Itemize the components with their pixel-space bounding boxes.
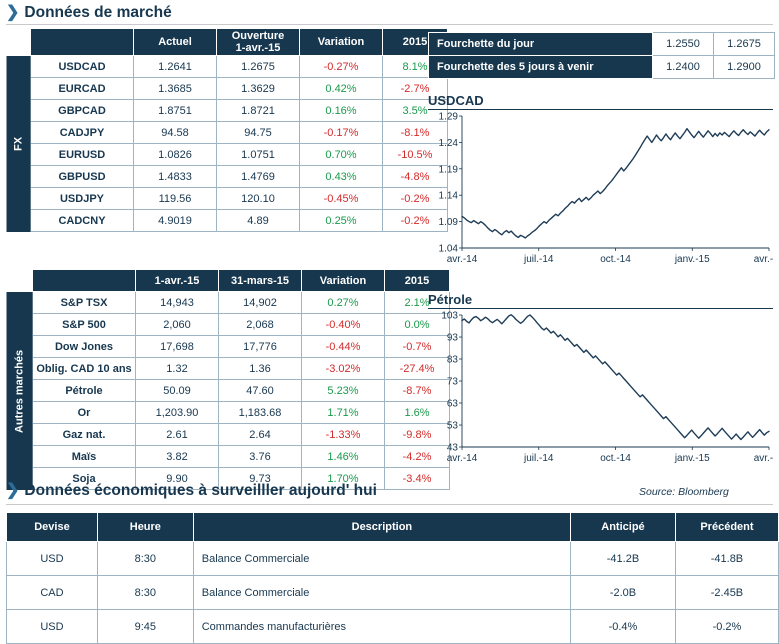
fx-row-name: GBPCAD xyxy=(31,100,134,122)
table-row: USD 9:45 Commandes manufacturières -0.4%… xyxy=(7,610,779,644)
svg-text:43: 43 xyxy=(447,443,459,454)
range-day-low: 1.2550 xyxy=(653,33,714,56)
svg-text:63: 63 xyxy=(447,399,459,410)
table-row: USDJPY 119.56 120.10 -0.45% -0.2% xyxy=(6,188,448,210)
table-row: Fourchette du jour 1.2550 1.2675 xyxy=(429,33,775,56)
fx-row-actuel: 1.8751 xyxy=(134,100,217,122)
eco-row-anticipe: -2.0B xyxy=(571,576,676,610)
other-markets-table: 1-avr.-15 31-mars-15 Variation 2015 Autr… xyxy=(6,269,450,490)
other-row-name: Or xyxy=(33,402,136,424)
range-5day-low: 1.2400 xyxy=(653,56,714,79)
fx-row-ouverture: 1.0751 xyxy=(217,144,300,166)
svg-text:juil.-14: juil.-14 xyxy=(523,254,554,265)
svg-text:avr.-15: avr.-15 xyxy=(754,453,773,464)
svg-text:93: 93 xyxy=(447,333,459,344)
table-row: Gaz nat. 2.61 2.64 -1.33% -9.8% xyxy=(6,424,450,446)
svg-text:avr.-15: avr.-15 xyxy=(754,254,773,265)
eco-header-description: Description xyxy=(193,513,570,542)
fx-row-variation: -0.45% xyxy=(300,188,383,210)
petrole-chart-area: 435363738393103avr.-14juil.-14oct.-14jan… xyxy=(428,309,773,467)
fx-row-name: CADJPY xyxy=(31,122,134,144)
eco-row-devise: CAD xyxy=(7,576,98,610)
other-row-name: Gaz nat. xyxy=(33,424,136,446)
fx-row-ouverture: 94.75 xyxy=(217,122,300,144)
usdcad-chart-svg: 1.041.091.141.191.241.29avr.-14juil.-14o… xyxy=(428,110,773,268)
other-row-name: Oblig. CAD 10 ans xyxy=(33,358,136,380)
fx-row-actuel: 1.3685 xyxy=(134,78,217,100)
fx-row-variation: -0.27% xyxy=(300,56,383,78)
table-row: GBPUSD 1.4833 1.4769 0.43% -4.8% xyxy=(6,166,448,188)
other-row-c2: 1,183.68 xyxy=(219,402,302,424)
other-row-name: Dow Jones xyxy=(33,336,136,358)
eco-title: ❯ Données économiques à surveilller aujo… xyxy=(6,482,377,500)
eco-row-precedent: -0.2% xyxy=(675,610,778,644)
fx-row-variation: -0.17% xyxy=(300,122,383,144)
other-row-name: Pétrole xyxy=(33,380,136,402)
fx-row-ouverture: 4.89 xyxy=(217,210,300,232)
table-row: Fourchette des 5 jours à venir 1.2400 1.… xyxy=(429,56,775,79)
eco-row-description: Commandes manufacturières xyxy=(193,610,570,644)
other-row-c1: 3.82 xyxy=(136,446,219,468)
eco-header-heure: Heure xyxy=(97,513,193,542)
fx-row-ouverture: 1.3629 xyxy=(217,78,300,100)
eco-row-precedent: -2.45B xyxy=(675,576,778,610)
range-label-5day: Fourchette des 5 jours à venir xyxy=(429,56,653,79)
eco-header-devise: Devise xyxy=(7,513,98,542)
other-body: Autres marchés S&P TSX 14,943 14,902 0.2… xyxy=(6,292,450,490)
eco-row-heure: 8:30 xyxy=(97,542,193,576)
fx-table: Actuel Ouverture 1-avr.-15 Variation 201… xyxy=(6,28,448,232)
range-table: Fourchette du jour 1.2550 1.2675 Fourche… xyxy=(428,32,775,79)
fx-row-name: CADCNY xyxy=(31,210,134,232)
svg-text:83: 83 xyxy=(447,355,459,366)
other-row-variation: 1.46% xyxy=(302,446,385,468)
fx-row-ouverture: 1.4769 xyxy=(217,166,300,188)
petrole-chart-block: Pétrole 435363738393103avr.-14juil.-14oc… xyxy=(428,292,773,467)
table-row: S&P 500 2,060 2,068 -0.40% 0.0% xyxy=(6,314,450,336)
title-divider xyxy=(6,24,773,25)
svg-text:juil.-14: juil.-14 xyxy=(523,453,554,464)
fx-body: FX USDCAD 1.2641 1.2675 -0.27% 8.1% EURC… xyxy=(6,56,448,232)
petrole-chart-title: Pétrole xyxy=(428,292,773,307)
market-data-title-text: Données de marché xyxy=(24,4,171,22)
chevron-right-icon: ❯ xyxy=(6,5,19,21)
fx-row-actuel: 1.4833 xyxy=(134,166,217,188)
fx-row-actuel: 1.0826 xyxy=(134,144,217,166)
fx-row-name: USDJPY xyxy=(31,188,134,210)
eco-header-row: Devise Heure Description Anticipé Précéd… xyxy=(7,513,779,542)
fx-row-variation: 0.43% xyxy=(300,166,383,188)
other-row-c1: 2.61 xyxy=(136,424,219,446)
other-header-2015: 2015 xyxy=(385,270,450,292)
svg-text:1.19: 1.19 xyxy=(439,164,459,175)
table-row: EURUSD 1.0826 1.0751 0.70% -10.5% xyxy=(6,144,448,166)
other-header-c1: 1-avr.-15 xyxy=(136,270,219,292)
svg-text:avr.-14: avr.-14 xyxy=(447,254,478,265)
source-label: Source: Bloomberg xyxy=(639,486,729,498)
chevron-right-icon-2: ❯ xyxy=(6,483,19,499)
svg-text:1.24: 1.24 xyxy=(439,138,459,149)
fx-row-ouverture: 1.8721 xyxy=(217,100,300,122)
svg-text:oct.-14: oct.-14 xyxy=(600,453,631,464)
other-row-c2: 14,902 xyxy=(219,292,302,314)
eco-header-anticipe: Anticipé xyxy=(571,513,676,542)
other-row-c2: 3.76 xyxy=(219,446,302,468)
usdcad-chart-title: USDCAD xyxy=(428,93,773,108)
other-header-c2: 31-mars-15 xyxy=(219,270,302,292)
fx-header-ouverture-line2: 1-avr.-15 xyxy=(218,42,298,54)
fx-table-block: Actuel Ouverture 1-avr.-15 Variation 201… xyxy=(6,28,448,232)
range-table-block: Fourchette du jour 1.2550 1.2675 Fourche… xyxy=(428,32,775,79)
eco-divider xyxy=(6,504,773,505)
eco-table: Devise Heure Description Anticipé Précéd… xyxy=(6,512,779,644)
fx-row-name: GBPUSD xyxy=(31,166,134,188)
other-header-variation: Variation xyxy=(302,270,385,292)
other-header-row: 1-avr.-15 31-mars-15 Variation 2015 xyxy=(6,270,450,292)
other-row-name: Maïs xyxy=(33,446,136,468)
fx-row-variation: 0.16% xyxy=(300,100,383,122)
svg-text:janv.-15: janv.-15 xyxy=(674,254,710,265)
eco-row-description: Balance Commerciale xyxy=(193,542,570,576)
other-row-c1: 50.09 xyxy=(136,380,219,402)
table-row: Maïs 3.82 3.76 1.46% -4.2% xyxy=(6,446,450,468)
other-row-name: S&P TSX xyxy=(33,292,136,314)
svg-text:1.04: 1.04 xyxy=(439,244,459,255)
svg-text:oct.-14: oct.-14 xyxy=(600,254,631,265)
svg-text:73: 73 xyxy=(447,377,459,388)
fx-header-variation: Variation xyxy=(300,29,383,56)
eco-header-precedent: Précédent xyxy=(675,513,778,542)
eco-row-precedent: -41.8B xyxy=(675,542,778,576)
other-row-variation: -3.02% xyxy=(302,358,385,380)
fx-header-actuel: Actuel xyxy=(134,29,217,56)
petrole-chart-svg: 435363738393103avr.-14juil.-14oct.-14jan… xyxy=(428,309,773,467)
other-row-c1: 1.32 xyxy=(136,358,219,380)
eco-row-devise: USD xyxy=(7,610,98,644)
market-data-title: ❯ Données de marché xyxy=(6,4,172,22)
other-row-variation: 5.23% xyxy=(302,380,385,402)
fx-row-variation: 0.25% xyxy=(300,210,383,232)
table-row: Pétrole 50.09 47.60 5.23% -8.7% xyxy=(6,380,450,402)
eco-row-anticipe: -0.4% xyxy=(571,610,676,644)
usdcad-chart-area: 1.041.091.141.191.241.29avr.-14juil.-14o… xyxy=(428,110,773,268)
other-row-c2: 1.36 xyxy=(219,358,302,380)
fx-side-band: FX xyxy=(6,56,31,232)
other-row-c2: 2,068 xyxy=(219,314,302,336)
fx-row-actuel: 94.58 xyxy=(134,122,217,144)
table-row: Oblig. CAD 10 ans 1.32 1.36 -3.02% -27.4… xyxy=(6,358,450,380)
other-row-c1: 1,203.90 xyxy=(136,402,219,424)
other-row-variation: -0.40% xyxy=(302,314,385,336)
table-row: USD 8:30 Balance Commerciale -41.2B -41.… xyxy=(7,542,779,576)
other-row-variation: -1.33% xyxy=(302,424,385,446)
eco-row-description: Balance Commerciale xyxy=(193,576,570,610)
table-row: CAD 8:30 Balance Commerciale -2.0B -2.45… xyxy=(7,576,779,610)
svg-text:avr.-14: avr.-14 xyxy=(447,453,478,464)
other-row-c2: 47.60 xyxy=(219,380,302,402)
svg-text:1.14: 1.14 xyxy=(439,191,459,202)
table-row: EURCAD 1.3685 1.3629 0.42% -2.7% xyxy=(6,78,448,100)
fx-row-variation: 0.70% xyxy=(300,144,383,166)
other-row-variation: 1.71% xyxy=(302,402,385,424)
fx-header-ouverture-line1: Ouverture xyxy=(218,30,298,42)
fx-header-ouverture: Ouverture 1-avr.-15 xyxy=(217,29,300,56)
eco-row-devise: USD xyxy=(7,542,98,576)
fx-row-name: EURUSD xyxy=(31,144,134,166)
fx-header-row: Actuel Ouverture 1-avr.-15 Variation 201… xyxy=(6,29,448,56)
fx-row-name: USDCAD xyxy=(31,56,134,78)
fx-row-name: EURCAD xyxy=(31,78,134,100)
other-row-c1: 17,698 xyxy=(136,336,219,358)
fx-row-ouverture: 120.10 xyxy=(217,188,300,210)
fx-row-actuel: 1.2641 xyxy=(134,56,217,78)
svg-text:1.09: 1.09 xyxy=(439,217,459,228)
other-row-c1: 2,060 xyxy=(136,314,219,336)
range-label-day: Fourchette du jour xyxy=(429,33,653,56)
other-row-variation: -0.44% xyxy=(302,336,385,358)
range-day-high: 1.2675 xyxy=(714,33,775,56)
svg-text:1.29: 1.29 xyxy=(439,112,459,123)
eco-body: USD 8:30 Balance Commerciale -41.2B -41.… xyxy=(7,542,779,644)
eco-row-anticipe: -41.2B xyxy=(571,542,676,576)
other-row-c2: 2.64 xyxy=(219,424,302,446)
fx-row-variation: 0.42% xyxy=(300,78,383,100)
svg-text:53: 53 xyxy=(447,421,459,432)
table-row: Dow Jones 17,698 17,776 -0.44% -0.7% xyxy=(6,336,450,358)
eco-row-heure: 8:30 xyxy=(97,576,193,610)
eco-row-heure: 9:45 xyxy=(97,610,193,644)
table-row: CADJPY 94.58 94.75 -0.17% -8.1% xyxy=(6,122,448,144)
table-row: CADCNY 4.9019 4.89 0.25% -0.2% xyxy=(6,210,448,232)
other-row-c2: 17,776 xyxy=(219,336,302,358)
eco-title-text: Données économiques à surveilller aujour… xyxy=(24,482,377,500)
fx-row-ouverture: 1.2675 xyxy=(217,56,300,78)
table-row: FX USDCAD 1.2641 1.2675 -0.27% 8.1% xyxy=(6,56,448,78)
other-row-variation: 0.27% xyxy=(302,292,385,314)
usdcad-chart-block: USDCAD 1.041.091.141.191.241.29avr.-14ju… xyxy=(428,93,773,268)
other-side-band: Autres marchés xyxy=(6,292,33,490)
table-row: Autres marchés S&P TSX 14,943 14,902 0.2… xyxy=(6,292,450,314)
fx-row-actuel: 119.56 xyxy=(134,188,217,210)
table-row: Or 1,203.90 1,183.68 1.71% 1.6% xyxy=(6,402,450,424)
fx-row-actuel: 4.9019 xyxy=(134,210,217,232)
range-5day-high: 1.2900 xyxy=(714,56,775,79)
other-markets-block: 1-avr.-15 31-mars-15 Variation 2015 Autr… xyxy=(6,269,450,490)
other-row-name: S&P 500 xyxy=(33,314,136,336)
svg-text:janv.-15: janv.-15 xyxy=(674,453,710,464)
svg-text:103: 103 xyxy=(441,311,458,322)
other-row-c1: 14,943 xyxy=(136,292,219,314)
fx-header-blank xyxy=(31,29,134,56)
table-row: GBPCAD 1.8751 1.8721 0.16% 3.5% xyxy=(6,100,448,122)
other-row-2015: -3.4% xyxy=(385,468,450,490)
other-header-blank xyxy=(33,270,136,292)
